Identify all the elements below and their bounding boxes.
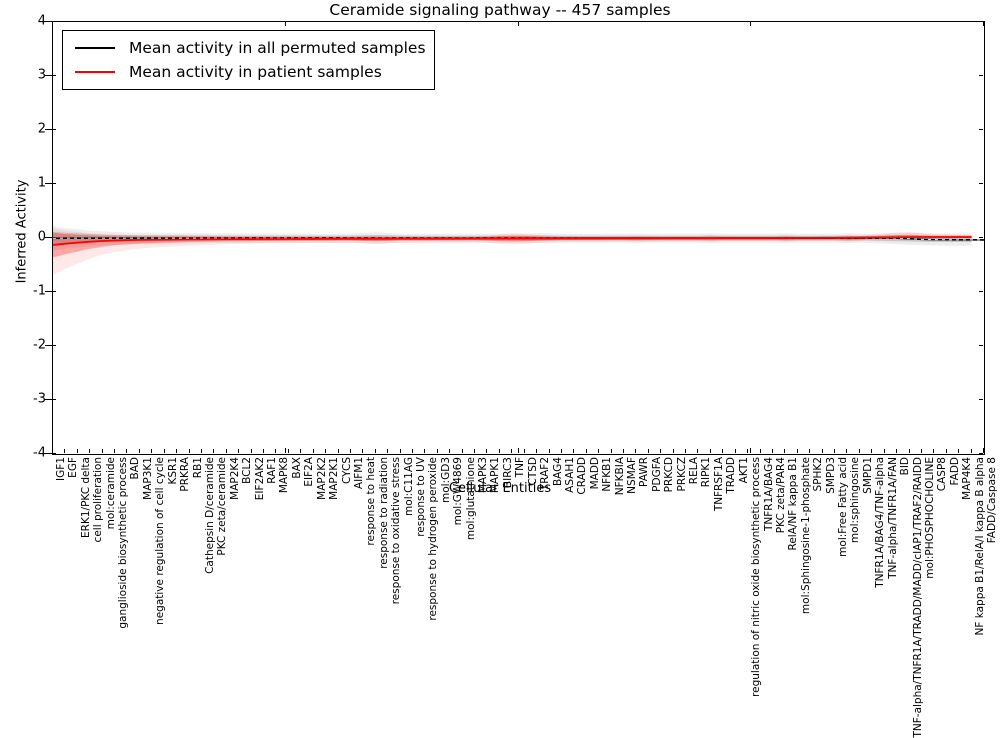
legend-label-permuted: Mean activity in all permuted samples	[129, 39, 426, 57]
x-axis-tick-label: PRKCZ	[677, 457, 688, 491]
x-axis-tick-label: BAX	[292, 457, 303, 479]
x-axis-tick-label: EIF2A	[304, 457, 315, 487]
x-axis-tick-label: mol:GD3	[441, 457, 452, 503]
y-axis-tick-label: 1	[6, 176, 46, 191]
y-axis-tick-label: -1	[6, 284, 46, 299]
y-axis-tick-mark	[45, 21, 52, 22]
x-axis-tick-label: NFKB1	[602, 457, 613, 492]
x-axis-tick-label: EIF2AK2	[255, 457, 266, 500]
x-axis-tick-label: FADD/Caspase 8	[987, 457, 998, 543]
x-axis-tick-label: MAP2K2	[317, 457, 328, 500]
x-axis-tick-label: RELA	[689, 457, 700, 484]
x-axis-tick-label: FADD	[950, 457, 961, 485]
x-axis-tick-label: PAWR	[639, 457, 650, 487]
x-axis-tick-label: BAG4	[553, 457, 564, 486]
x-axis-tick-label: MAPK3	[478, 457, 489, 493]
x-axis-tick-label: PDGFA	[652, 457, 663, 492]
legend-item-patient: Mean activity in patient samples	[69, 60, 426, 84]
x-axis-tick-label: SMPD3	[826, 457, 837, 494]
legend-item-permuted: Mean activity in all permuted samples	[69, 36, 426, 60]
page-title: Ceramide signaling pathway -- 457 sample…	[0, 1, 1000, 19]
x-axis-tick-label: EGF	[68, 457, 79, 478]
x-axis-tick-label: mol:C11AG	[404, 457, 415, 516]
x-axis-tick-label: TRADD	[726, 457, 737, 494]
x-axis-tick-label: MADD	[590, 457, 601, 489]
x-axis-tick-label: AKT1	[739, 457, 750, 483]
y-axis-tick-label: 0	[6, 230, 46, 245]
x-axis-tick-label: TNFRSF1A	[714, 457, 725, 511]
x-axis-tick-label: response to heat	[366, 457, 377, 546]
y-axis-tick-label: 3	[6, 68, 46, 83]
y-axis-tick-mark	[45, 291, 52, 292]
x-axis-tick-label: mol:GW4869	[453, 457, 464, 525]
y-axis-tick-mark	[45, 129, 52, 130]
legend-swatch-permuted	[75, 47, 115, 49]
x-axis-tick-label: RelA/NF kappa B1	[788, 457, 799, 550]
x-axis-tick-label: MAP2K1	[329, 457, 340, 500]
x-axis-tick-label: BAD	[130, 457, 141, 479]
y-axis-tick-label: 2	[6, 122, 46, 137]
x-axis-tick-label: TNFR1A/BAG4/TNF-alpha	[875, 457, 886, 588]
x-axis-tick-label: mol:PHOSPHOCHOLINE	[925, 457, 936, 579]
x-axis-tick-label: response to oxidative stress	[391, 457, 402, 604]
x-axis-tick-label: PRKRA	[180, 457, 191, 492]
x-axis-tick-label: response to UV	[416, 457, 427, 537]
x-axis-tick-label: TRAF2	[540, 457, 551, 490]
x-axis-tick-label: mol:sphingosine	[850, 457, 861, 543]
x-axis-tick-label: Cathepsin D/ceramide	[205, 457, 216, 574]
y-axis-tick-mark	[45, 345, 52, 346]
y-axis-tick-label: 4	[6, 14, 46, 29]
y-axis-tick-mark	[45, 183, 52, 184]
x-axis-tick-label: TNF-alpha/TNFR1A/TRADD/MADD/cIAP1/TRAF2/…	[913, 457, 924, 738]
x-axis-tick-label: IGF1	[56, 457, 67, 481]
chart-figure: Ceramide signaling pathway -- 457 sample…	[0, 0, 1000, 500]
y-axis-tick-label: -2	[6, 338, 46, 353]
y-axis-tick-mark	[45, 399, 52, 400]
x-axis-tick-label: TNF	[515, 457, 526, 477]
x-axis-tick-label: BID	[900, 457, 911, 475]
x-axis-tick-label: BCL2	[242, 457, 253, 484]
x-axis-tick-label: NF kappa B1/RelA/I kappa B alpha	[975, 457, 986, 636]
x-axis-tick-label: regulation of nitric oxide biosynthetic …	[751, 457, 762, 697]
y-axis-tick-label: -4	[6, 446, 46, 461]
x-axis-tick-label: RB1	[193, 457, 204, 478]
chart-legend: Mean activity in all permuted samples Me…	[62, 30, 435, 90]
x-axis-tick-label: SMPD1	[863, 457, 874, 494]
x-axis-tick-label: MAP2K4	[230, 457, 241, 500]
x-axis-tick-label: MAPK8	[279, 457, 290, 493]
x-axis-tick-label: ASAH1	[565, 457, 576, 493]
x-axis-tick-label: CASP8	[937, 457, 948, 491]
x-axis-tick-label: negative regulation of cell cycle	[155, 457, 166, 625]
x-axis-tick-label: MAP3K1	[143, 457, 154, 500]
x-axis-tick-label: SPHK2	[813, 457, 824, 491]
x-axis-tick-label: PKC zeta/PAR4	[776, 457, 787, 533]
x-axis-tick-label: ERK1/PKC delta	[81, 457, 92, 538]
x-axis-tick-label: TNF-alpha/TNFR1A/FAN	[888, 457, 899, 579]
x-axis-tick-label: MAPK1	[490, 457, 501, 493]
x-axis-tick-label: response to radiation	[379, 457, 390, 569]
x-axis-tick-label: response to hydrogen peroxide	[428, 457, 439, 621]
y-axis-tick-label: -3	[6, 392, 46, 407]
x-axis-tick-label: ganglioside biosynthetic process	[118, 457, 129, 629]
x-axis-tick-label: NSMAF	[627, 457, 638, 494]
x-axis-tick-label: CYCS	[342, 457, 353, 484]
legend-swatch-patient	[75, 71, 115, 73]
x-axis-tick-label: mol:Sphingosine-1-phosphate	[801, 457, 812, 614]
x-axis-tick-label: BIRC3	[503, 457, 514, 488]
x-axis-tick-label: MAP4K4	[962, 457, 973, 500]
x-axis-tick-label: TNFR1A/BAG4	[764, 457, 775, 531]
x-axis-tick-label: KSR1	[168, 457, 179, 485]
x-axis-tick-label: mol:glutathione	[466, 457, 477, 540]
x-axis-tick-label: PRKCD	[664, 457, 675, 492]
x-axis-tick-label: AIFM1	[354, 457, 365, 489]
x-axis-tick-label: RAF1	[267, 457, 278, 484]
y-axis-tick-mark	[45, 237, 52, 238]
y-axis-tick-mark	[45, 75, 52, 76]
x-axis-tick-label: CTSD	[528, 457, 539, 486]
x-axis-tick-label: PKC zeta/ceramide	[217, 457, 228, 556]
x-axis-tick-label: mol:Free Fatty acid	[838, 457, 849, 557]
legend-label-patient: Mean activity in patient samples	[129, 63, 382, 81]
x-axis-tick-label: mol:ceramide	[106, 457, 117, 529]
x-axis-tick-label: CRADD	[577, 457, 588, 495]
x-axis-tick-label: NFKBIA	[615, 457, 626, 495]
y-axis-tick-mark	[45, 453, 52, 454]
x-axis-tick-label: RIPK1	[701, 457, 712, 487]
